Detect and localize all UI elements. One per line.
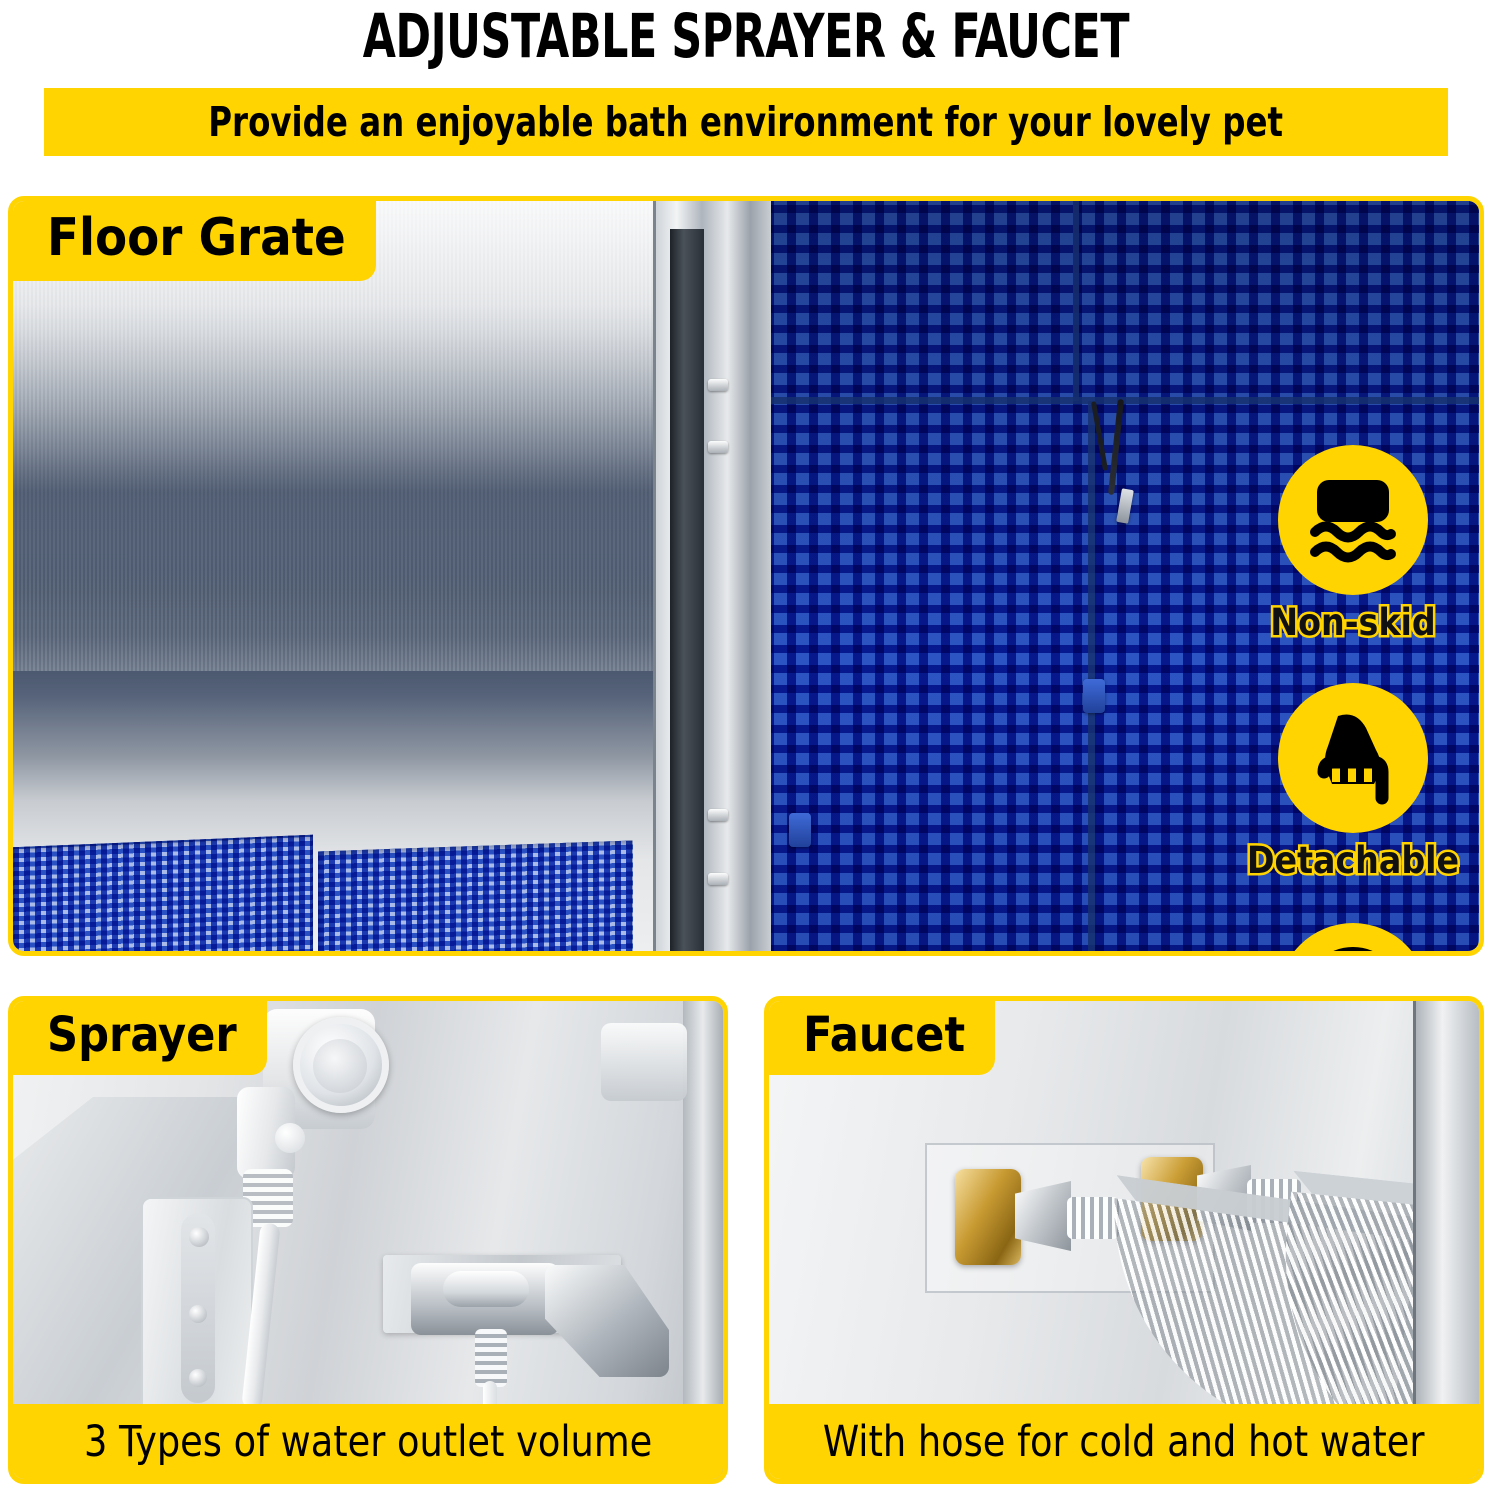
brass-fitting xyxy=(955,1169,1021,1265)
bracket-screw xyxy=(189,1305,207,1323)
badge-detachable: Detachable xyxy=(1235,683,1471,882)
badge-non-skid: Non-skid xyxy=(1235,445,1471,644)
faucet-caption: With hose for cold and hot water xyxy=(768,1404,1480,1480)
tub-lip xyxy=(13,951,753,956)
panel-tag-label: Floor Grate xyxy=(47,208,346,268)
grate-clip xyxy=(1083,679,1105,713)
subtitle-text: Provide an enjoyable bath environment fo… xyxy=(209,98,1284,146)
stainless-post xyxy=(653,201,771,956)
panel-tag-sprayer: Sprayer xyxy=(11,999,267,1075)
post-seal-strip xyxy=(670,229,704,956)
panel-floor-grate: Non-skid Detachable xyxy=(8,196,1484,956)
post-screw xyxy=(708,873,728,885)
hand-lift-icon xyxy=(1278,683,1428,833)
post-screw xyxy=(708,809,728,821)
panel-tag-faucet: Faucet xyxy=(767,999,995,1075)
non-skid-wave-icon xyxy=(1278,445,1428,595)
sprayer-caption: 3 Types of water outlet volume xyxy=(12,1404,724,1480)
grate-seam-vertical-upper xyxy=(1073,201,1079,401)
bracket-screw xyxy=(189,1369,207,1387)
panel-tag-label: Sprayer xyxy=(47,1007,237,1063)
badge-label: Non-skid xyxy=(1235,601,1471,644)
faucet-aerator xyxy=(475,1329,507,1387)
badge-no-soak: No Soak xyxy=(1235,923,1471,956)
sprayer-button xyxy=(275,1123,305,1153)
faucet-lever-handle xyxy=(443,1271,529,1307)
page-title: ADJUSTABLE SPRAYER & FAUCET xyxy=(164,2,1328,72)
chrome-coupler xyxy=(1067,1197,1119,1239)
header: ADJUSTABLE SPRAYER & FAUCET Provide an e… xyxy=(0,0,1492,156)
floor-grate-panel-left xyxy=(13,835,313,956)
post-screw xyxy=(708,379,728,391)
grate-seam-horizontal xyxy=(743,397,1484,404)
tub-rail-bracket xyxy=(601,1023,687,1101)
subtitle-banner: Provide an enjoyable bath environment fo… xyxy=(44,88,1448,156)
sprayer-caption-text: 3 Types of water outlet volume xyxy=(84,1417,652,1467)
panel-tag-floor-grate: Floor Grate xyxy=(11,199,376,281)
no-soak-prohibited-icon xyxy=(1278,923,1428,956)
badge-label: Detachable xyxy=(1235,839,1471,882)
grate-clip xyxy=(789,813,811,847)
panel-tag-label: Faucet xyxy=(803,1007,965,1063)
floor-grate-panel-right xyxy=(318,841,633,957)
panel-sprayer: Sprayer 3 Types of water outlet volume xyxy=(8,996,728,1484)
bracket-screw xyxy=(189,1227,209,1247)
faucet-caption-text: With hose for cold and hot water xyxy=(823,1417,1425,1467)
panel-faucet: Faucet With hose for cold and hot water xyxy=(764,996,1484,1484)
sprayer-head-nozzle xyxy=(313,1039,367,1093)
faucet-spout xyxy=(545,1265,669,1377)
post-screw xyxy=(708,441,728,453)
